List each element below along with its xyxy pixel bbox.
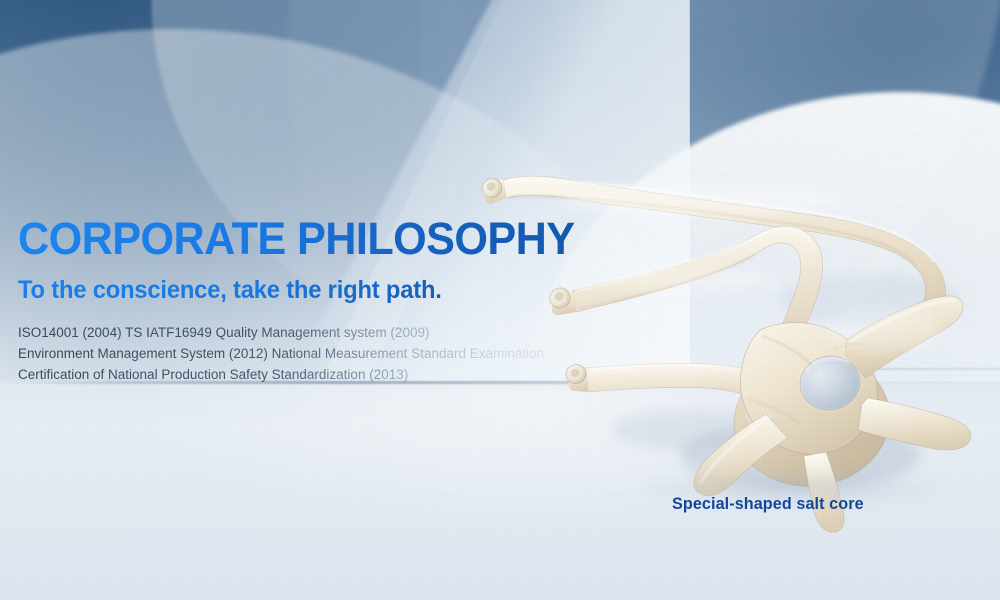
text-block: CORPORATE PHILOSOPHY To the conscience, …	[18, 214, 638, 385]
page-subtitle: To the conscience, take the right path.	[18, 276, 607, 304]
corporate-philosophy-banner: CORPORATE PHILOSOPHY To the conscience, …	[0, 0, 1000, 600]
certification-list: ISO14001 (2004) TS IATF16949 Quality Man…	[18, 322, 638, 385]
certification-line: Certification of National Production Saf…	[18, 364, 638, 385]
certification-line: ISO14001 (2004) TS IATF16949 Quality Man…	[18, 322, 638, 343]
product-caption: Special-shaped salt core	[672, 494, 864, 514]
background-horizon-line-secondary	[600, 368, 1000, 370]
certification-line: Environment Management System (2012) Nat…	[18, 343, 638, 364]
page-title: CORPORATE PHILOSOPHY	[18, 214, 613, 264]
